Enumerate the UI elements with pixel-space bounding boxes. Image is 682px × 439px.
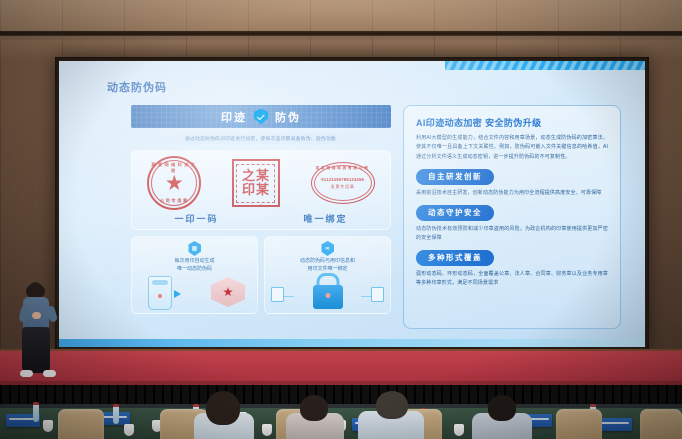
feature-line1: 动态防伪码与用印信息和 [265, 258, 390, 266]
slide-title: 动态防伪码 [107, 79, 167, 95]
conference-scene: 动态防伪码 印迹 防伪 通过动态防伪码对印迹进行加密，使每次盖印都具备防伪、验伪… [0, 0, 682, 439]
oval-seal-arc: 某某网络科技有限公司 [312, 166, 374, 171]
audience-person-head [300, 395, 328, 421]
slide-right-panel: AI印迹动态加密 安全防伪升级 利用AI大模型的生成能力，结合文件内容和用章场景… [403, 105, 621, 329]
square-seal-line2: 印某 [242, 183, 270, 197]
round-seal-arc-top: 某某网络科技有限 [149, 162, 199, 174]
tea-cup [454, 424, 464, 436]
stamp-label-unique-bind: 唯一绑定 [261, 212, 390, 225]
arrow-right-icon [174, 290, 181, 298]
banner-right-text: 防伪 [275, 109, 301, 125]
round-seal-stamp: 某某网络科技有限 公司专用章 [147, 156, 201, 210]
link-bind-icon: ∞ [321, 241, 334, 256]
audience-person-head [488, 395, 516, 421]
qr-code-icon: ▦ [188, 241, 201, 256]
feature-card-unique-bind-text: 动态防伪码与用印信息和 用印文件唯一绑定 [265, 258, 390, 273]
oval-seal-stamp: 某某网络科技有限公司 91123456789123456 发票专用章 [311, 162, 375, 204]
water-bottle [33, 402, 39, 422]
stamp-label-row: 一印一码 唯一绑定 [132, 212, 390, 225]
tea-cup [43, 420, 53, 432]
audience-chair [556, 409, 602, 439]
panel-pill-innovation: 自主研发创新 [416, 169, 494, 185]
link-line [361, 296, 371, 297]
presenter [18, 282, 58, 380]
stamp-showcase-card: 某某网络科技有限 公司专用章 之某 印某 [131, 150, 391, 230]
stamp-device-illustration [132, 273, 257, 311]
oval-seal-subtext: 发票专用章 [331, 184, 355, 190]
document-icon [371, 287, 384, 302]
projection-screen: 动态防伪码 印迹 防伪 通过动态防伪码对印迹进行加密，使每次盖印都具备防伪、验伪… [59, 61, 645, 347]
square-seal-stamp: 之某 印某 [232, 159, 280, 207]
wall-rail-highlight [0, 36, 682, 38]
panel-section-coverage-text: 弧形动态码、环形动态码，全面覆盖公章、法人章、合同章、财务章以及业务专用章等多种… [416, 270, 608, 288]
slide-subtitle: 通过动态防伪码对印迹进行加密，使每次盖印都具备防伪、验伪功能 [185, 135, 336, 142]
oval-seal-number: 91123456789123456 [321, 177, 364, 182]
panel-pill-coverage: 多种形式覆盖 [416, 250, 494, 266]
panel-body: 利用AI大模型的生成能力，结合文件内容和用章场景，动态生成防伪码的加密算法，使其… [416, 134, 608, 162]
feature-line2: 用印文件唯一绑定 [265, 266, 390, 274]
audience-chair [640, 409, 682, 439]
stamp-group: 某某网络科技有限 公司专用章 之某 印某 [132, 157, 390, 209]
audience-person-head [376, 391, 408, 419]
water-bottle [113, 404, 119, 424]
feature-row: ▦ 每次用印自动生成 唯一动态防伪码 [131, 236, 391, 314]
hex-seal-icon [211, 277, 245, 307]
tea-cup [262, 424, 272, 436]
projection-screen-frame: 动态防伪码 印迹 防伪 通过动态防伪码对印迹进行加密，使每次盖印都具备防伪、验伪… [55, 57, 649, 351]
audience-chair [58, 409, 104, 439]
panel-pill-security: 动态守护安全 [416, 205, 494, 221]
presentation-slide: 动态防伪码 印迹 防伪 通过动态防伪码对印迹进行加密，使每次盖印都具备防伪、验伪… [59, 61, 645, 347]
panel-section-innovation-text: 采用前沿技术自主研发，创新动态防伪能力为用印全流程提供高度安全、可靠保障 [416, 189, 608, 198]
panel-section-security-text: 动态防伪技术有效预防和减少印章盗用的风险，为政企机构的印章使用提供更加严密的安全… [416, 225, 608, 243]
slide-left-column: 印迹 防伪 通过动态防伪码对印迹进行加密，使每次盖印都具备防伪、验伪功能 某某网… [131, 105, 391, 314]
stage-floor [0, 351, 682, 385]
feature-card-unique-bind: ∞ 动态防伪码与用印信息和 用印文件唯一绑定 [264, 236, 391, 314]
tea-cup [124, 424, 134, 436]
feature-line1: 每次用印自动生成 [132, 258, 257, 266]
slide-banner: 印迹 防伪 [131, 105, 391, 128]
panel-title: AI印迹动态加密 安全防伪升级 [416, 116, 608, 129]
feature-card-dynamic-code-text: 每次用印自动生成 唯一动态防伪码 [132, 258, 257, 273]
square-seal-line1: 之某 [242, 169, 270, 183]
round-seal-arc-bottom: 公司专用章 [149, 198, 199, 204]
wall-light-sheen [0, 0, 682, 60]
banner-left-text: 印迹 [221, 109, 247, 125]
lock-documents-illustration [265, 273, 390, 311]
slide-subtitle-pill: 通过动态防伪码对印迹进行加密，使每次盖印都具备防伪、验伪功能 [149, 133, 373, 144]
name-placard [598, 418, 632, 431]
feature-card-dynamic-code: ▦ 每次用印自动生成 唯一动态防伪码 [131, 236, 258, 314]
audience-person-head [206, 391, 240, 425]
feature-line2: 唯一动态防伪码 [132, 266, 257, 274]
shield-check-icon [254, 109, 268, 125]
document-icon [271, 287, 284, 302]
link-line [284, 296, 294, 297]
stamp-label-one-code: 一印一码 [132, 212, 261, 225]
lock-icon [313, 285, 343, 309]
